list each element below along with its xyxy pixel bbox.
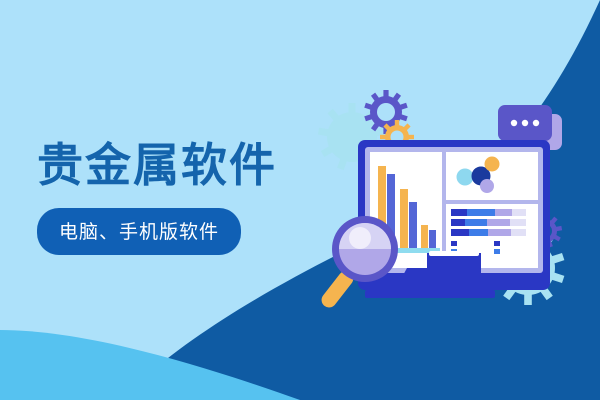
bar-orange-3: [421, 225, 428, 248]
progress-row-1: [451, 209, 526, 216]
progress-row-2: [451, 219, 526, 226]
cyan-circle: [457, 169, 474, 186]
promo-banner: 贵金属软件 电脑、手机版软件: [0, 0, 600, 400]
lavender-circle: [480, 179, 494, 193]
progress-row-3: [451, 229, 526, 236]
headline-block: 贵金属软件 电脑、手机版软件: [37, 142, 337, 255]
page-title: 贵金属软件: [37, 142, 337, 188]
chat-dot-1: [511, 120, 517, 126]
monitor-base: [365, 290, 495, 298]
orange-circle: [485, 157, 500, 172]
chat-dot-2: [522, 120, 528, 126]
chat-dot-3: [533, 120, 539, 126]
bar-orange-2: [400, 189, 408, 248]
subtitle-pill[interactable]: 电脑、手机版软件: [37, 208, 241, 255]
monitor: [358, 140, 550, 298]
bar-indigo-2: [409, 202, 417, 248]
magnifier-glint: [349, 227, 371, 249]
bar-indigo-3: [429, 230, 436, 248]
monitor-led-bar: [429, 251, 479, 256]
